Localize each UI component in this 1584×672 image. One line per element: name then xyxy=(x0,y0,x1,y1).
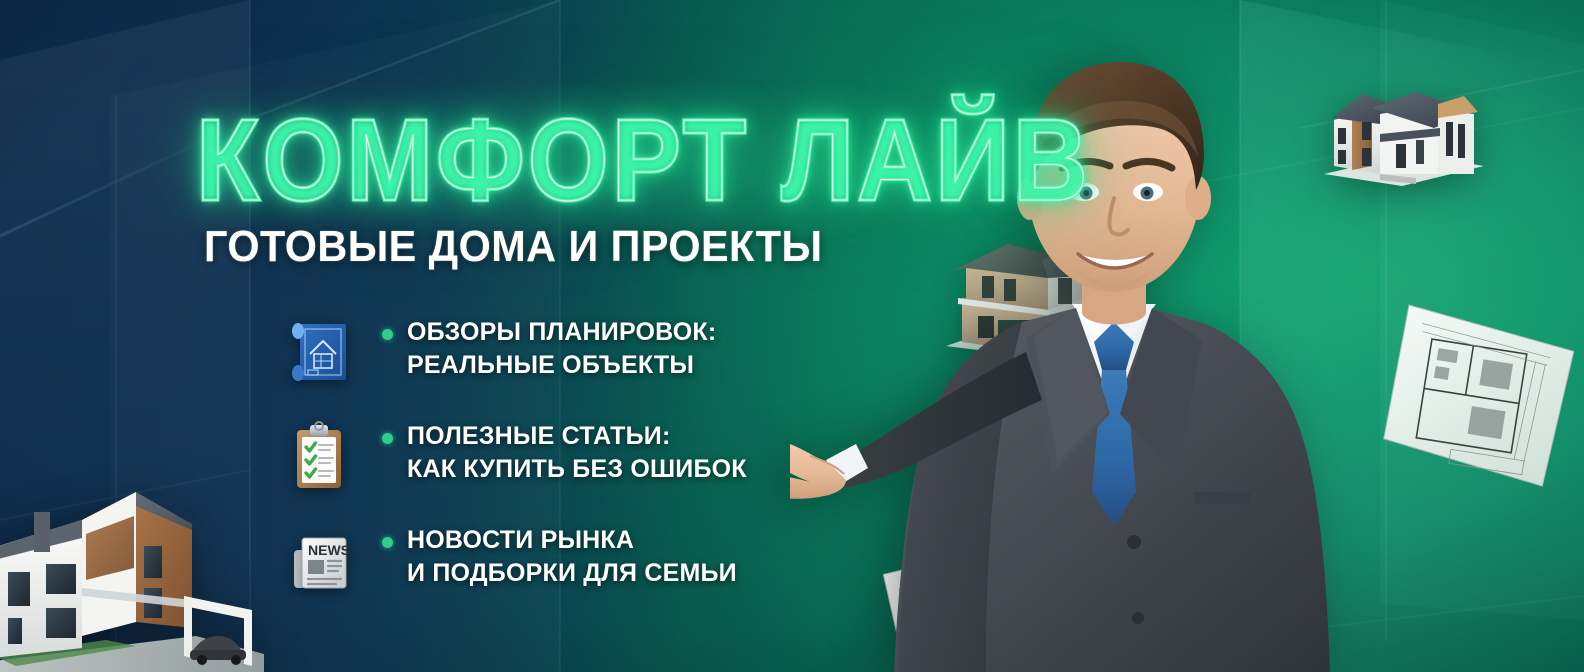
newspaper-headline-text: NEWS xyxy=(308,542,350,558)
promo-banner: КОМФОРТ ЛАЙВ КОМФОРТ ЛАЙВ ГОТОВЫЕ ДОМА И… xyxy=(0,0,1584,672)
newspaper-icon: NEWS xyxy=(288,524,350,596)
list-item: NEWS НОВОСТИ РЫНКА И ПОДБОРКИ ДЛЯ СЕМЬИ xyxy=(288,524,808,600)
clipboard-checklist-icon xyxy=(288,420,350,492)
feature-text: ПОЛЕЗНЫЕ СТАТЬИ: КАК КУПИТЬ БЕЗ ОШИБОК xyxy=(407,420,747,486)
feature-list: ОБЗОРЫ ПЛАНИРОВОК: РЕАЛЬНЫЕ ОБЪЕКТЫ xyxy=(288,316,808,600)
page-title: КОМФОРТ ЛАЙВ xyxy=(196,98,1056,223)
feature-line-2: РЕАЛЬНЫЕ ОБЪЕКТЫ xyxy=(407,349,716,382)
feature-text: ОБЗОРЫ ПЛАНИРОВОК: РЕАЛЬНЫЕ ОБЪЕКТЫ xyxy=(407,316,716,382)
list-item: ПОЛЕЗНЫЕ СТАТЬИ: КАК КУПИТЬ БЕЗ ОШИБОК xyxy=(288,420,808,496)
headline-group: КОМФОРТ ЛАЙВ КОМФОРТ ЛАЙВ xyxy=(196,98,1056,210)
bullet-dot xyxy=(382,433,393,444)
blueprint-scroll-icon xyxy=(288,316,350,388)
feature-text: НОВОСТИ РЫНКА И ПОДБОРКИ ДЛЯ СЕМЬИ xyxy=(407,524,737,590)
page-subtitle: ГОТОВЫЕ ДОМА И ПРОЕКТЫ xyxy=(204,222,822,272)
feature-line-2: КАК КУПИТЬ БЕЗ ОШИБОК xyxy=(407,453,747,486)
feature-line-2: И ПОДБОРКИ ДЛЯ СЕМЬИ xyxy=(407,557,737,590)
feature-line-1: ПОЛЕЗНЫЕ СТАТЬИ: xyxy=(407,420,747,453)
bullet-dot xyxy=(382,537,393,548)
feature-line-1: НОВОСТИ РЫНКА xyxy=(407,524,737,557)
list-item: ОБЗОРЫ ПЛАНИРОВОК: РЕАЛЬНЫЕ ОБЪЕКТЫ xyxy=(288,316,808,392)
bullet-dot xyxy=(382,329,393,340)
house-image-bottom-left xyxy=(0,476,264,672)
feature-line-1: ОБЗОРЫ ПЛАНИРОВОК: xyxy=(407,316,716,349)
